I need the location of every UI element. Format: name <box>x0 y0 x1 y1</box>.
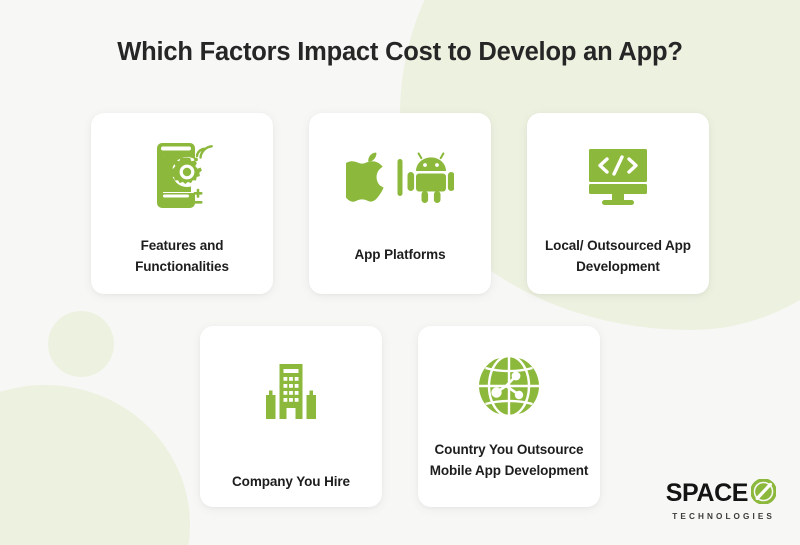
factor-card-label: App Platforms <box>345 244 456 265</box>
factor-card-label: Features and Functionalities <box>91 235 273 278</box>
factor-card-label: Company You Hire <box>222 471 360 492</box>
mobile-gear-settings-icon <box>149 142 215 210</box>
factor-card-local-outsourced-app-development[interactable]: Local/ Outsourced App Development <box>527 113 709 294</box>
brand-logo-top: SPACE <box>666 479 776 509</box>
brand-tagline: TECHNOLOGIES <box>672 513 776 521</box>
apple-logo-icon <box>346 153 384 202</box>
page-title: Which Factors Impact Cost to Develop an … <box>0 38 800 67</box>
android-logo-icon <box>408 154 455 204</box>
factor-card-features-and-functionalities[interactable]: Features and Functionalities <box>91 113 273 294</box>
globe-network-icon <box>478 354 540 418</box>
office-building-icon <box>261 360 321 422</box>
factor-card-label: Country You Outsource Mobile App Develop… <box>418 439 600 482</box>
divider <box>398 159 403 196</box>
factor-card-country-you-outsource-mobile-app-development[interactable]: Country You Outsource Mobile App Develop… <box>418 326 600 507</box>
factor-card-company-you-hire[interactable]: Company You Hire <box>200 326 382 507</box>
monitor-code-icon <box>587 146 649 208</box>
factor-card-app-platforms[interactable]: App Platforms <box>309 113 491 294</box>
infographic-page: Which Factors Impact Cost to Develop an … <box>0 0 800 545</box>
factor-card-label: Local/ Outsourced App Development <box>527 235 709 278</box>
brand-logo[interactable]: SPACE TECHNOLOGIES <box>666 479 776 521</box>
space-o-leaf-mark-icon <box>751 479 776 509</box>
apple-android-platforms-icon <box>346 146 454 208</box>
brand-name: SPACE <box>666 481 748 506</box>
